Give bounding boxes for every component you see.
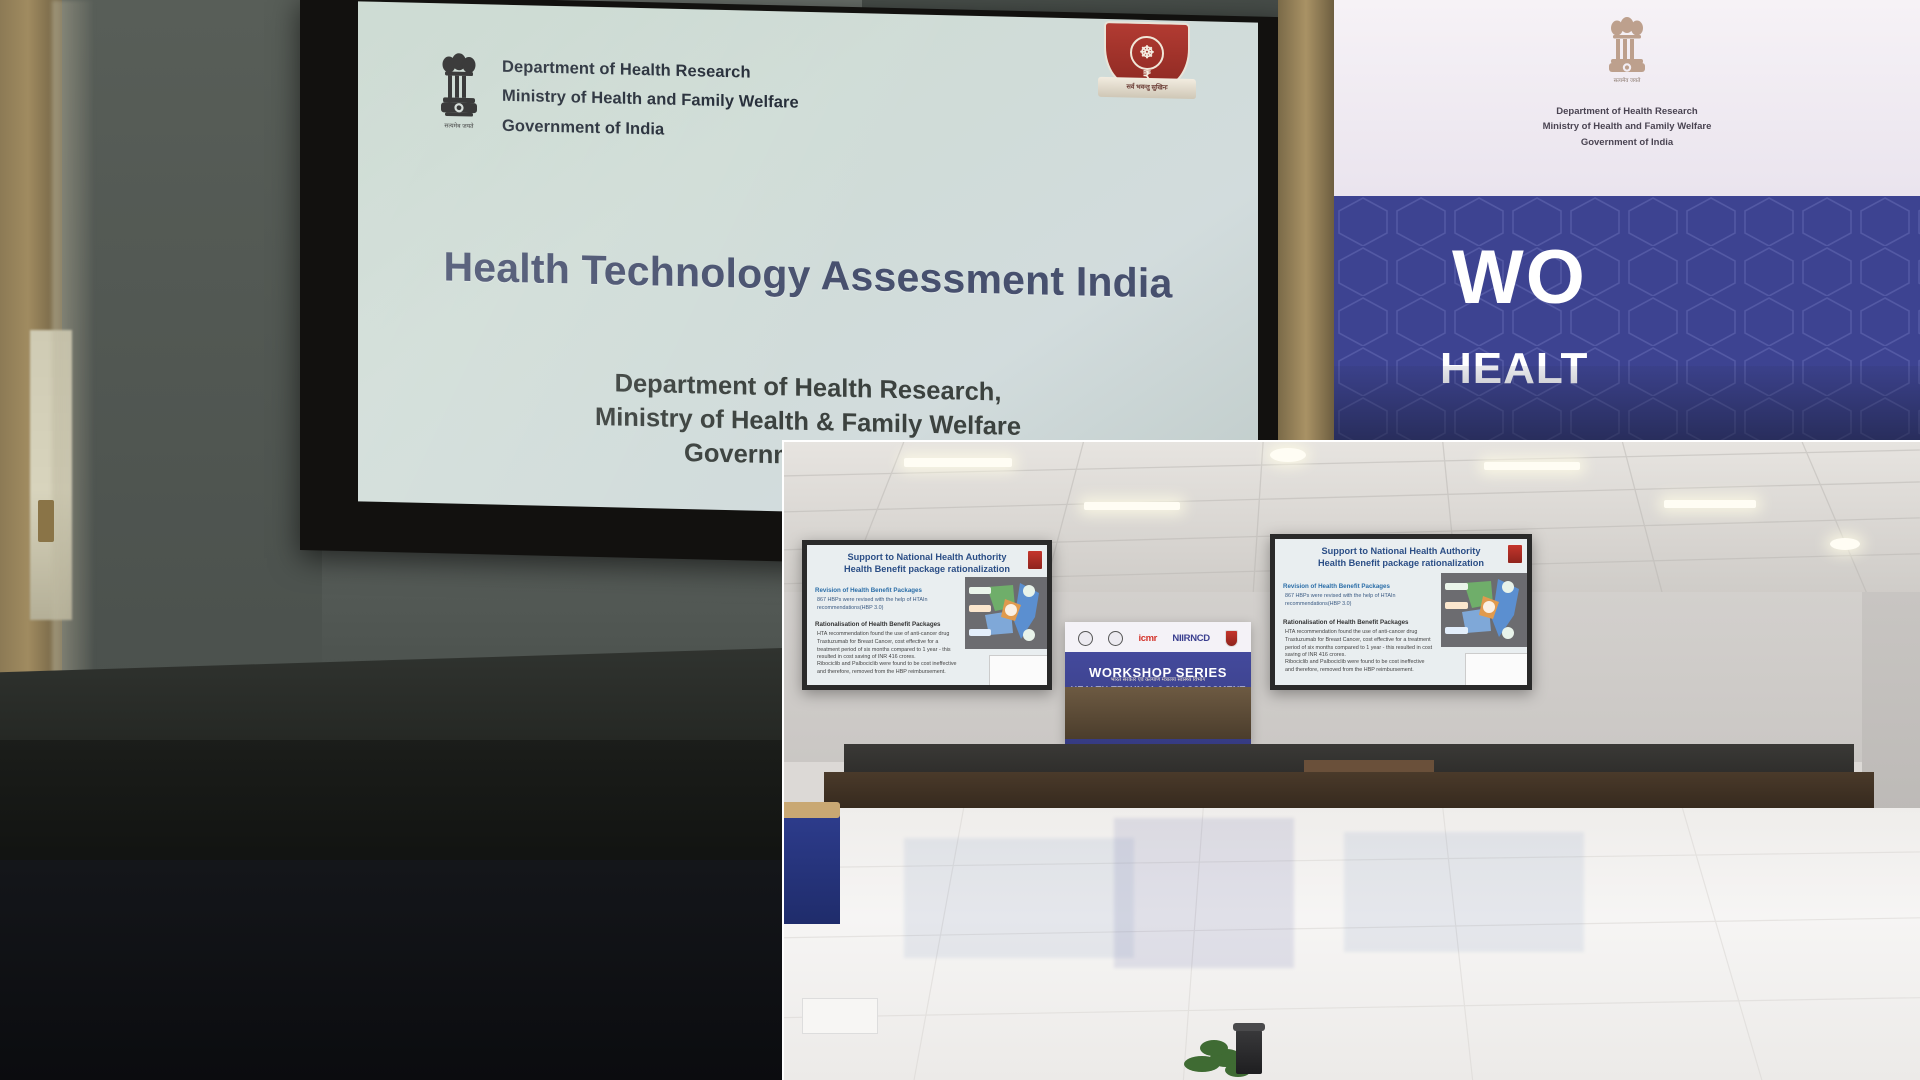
floor-reflection	[904, 838, 1134, 958]
inset-right-section-2-heading: Rationalisation of Health Benefit Packag…	[1283, 619, 1409, 626]
hta-shield-badge-icon: ☸ ₹ सर्व भवन्तु सुखिनः	[1098, 21, 1196, 115]
india-state-emblem-icon: सत्यमेव जयते	[436, 51, 482, 136]
slide-title: Health Technology Assessment India	[358, 241, 1258, 309]
slide-header-line-2: Ministry of Health and Family Welfare	[502, 82, 799, 118]
slide-header-line-3: Government of India	[502, 111, 799, 147]
inset-right-thumbnail	[1465, 653, 1527, 685]
banner-photo-caption: भारत सरकार एवं कल्याण मंत्रालय स्वास्थ्य…	[1065, 675, 1251, 683]
hta-shield-badge-icon	[1225, 630, 1238, 647]
inset-right-section-2-bullet-1: HTA recommendation found the use of anti…	[1285, 629, 1435, 660]
india-map-icon	[1441, 573, 1527, 647]
inset-right-title-line-2: Health Benefit package rationalization	[1275, 557, 1527, 569]
ceiling-light	[1084, 502, 1180, 510]
floor-urn	[1236, 1028, 1262, 1074]
inset-right-section-1-heading: Revision of Health Benefit Packages	[1283, 583, 1390, 590]
poster-bottom-shadow	[1334, 366, 1920, 440]
ceiling-light	[1664, 500, 1756, 508]
svg-text:सत्यमेव जयते: सत्यमेव जयते	[444, 121, 474, 130]
hta-shield-badge-icon	[1027, 550, 1043, 570]
inset-left-section-1-body: 867 HBPs were revised with the help of H…	[817, 597, 957, 613]
inset-right-slide: Support to National Health Authority Hea…	[1275, 539, 1527, 685]
inset-hall-photo: Support to National Health Authority Hea…	[782, 440, 1920, 1080]
slide-header-line-1: Department of Health Research	[502, 53, 799, 89]
inset-right-title-line-1: Support to National Health Authority	[1275, 545, 1527, 557]
inset-right-projection-screen: Support to National Health Authority Hea…	[1270, 534, 1532, 690]
left-wall	[62, 0, 322, 690]
window-latch	[38, 500, 54, 542]
auditorium-floor	[0, 860, 782, 1080]
floor-reflection	[1344, 832, 1584, 952]
slide-header: सत्यमेव जयते Department of Health Resear…	[436, 51, 799, 148]
inset-right-section-2-bullet-2: Ribociclib and Palbociclib were found to…	[1285, 659, 1435, 675]
icmr-wordmark: icmr	[1139, 633, 1157, 644]
inset-left-slide: Support to National Health Authority Hea…	[807, 545, 1047, 685]
table-top	[782, 802, 840, 818]
badge-wheel: ☸	[1130, 36, 1164, 71]
inset-left-title-line-2: Health Benefit package rationalization	[807, 563, 1047, 575]
inset-left-title-line-1: Support to National Health Authority	[807, 551, 1047, 563]
ceiling-light	[904, 458, 1012, 467]
urn-lid	[1233, 1023, 1265, 1031]
window-curtain	[52, 0, 92, 700]
poster-wood-frame	[1278, 0, 1334, 440]
slide-subtitle-line-1: Department of Health Research,	[358, 361, 1258, 416]
poster-org-lines: Department of Health Research Ministry o…	[1334, 104, 1920, 150]
ceiling-light	[1830, 538, 1860, 550]
inset-right-slide-title: Support to National Health Authority Hea…	[1275, 545, 1527, 570]
niirncd-wordmark: NIIRNCD	[1172, 633, 1209, 644]
india-state-emblem-icon: सत्यमेव जयते	[1605, 16, 1649, 90]
india-state-emblem-icon	[1078, 631, 1093, 646]
inset-left-thumbnail	[989, 655, 1047, 685]
banner-logo-row: icmr NIIRNCD	[1065, 626, 1251, 650]
hta-shield-badge-icon	[1507, 544, 1523, 564]
stage-platform-face	[0, 740, 782, 880]
inset-left-section-2-bullet-1: HTA recommendation found the use of anti…	[817, 631, 959, 662]
inset-left-section-2-heading: Rationalisation of Health Benefit Packag…	[815, 621, 941, 628]
poster-org-line-3: Government of India	[1334, 135, 1920, 150]
india-map-svg	[1441, 573, 1527, 647]
inset-right-section-1-body: 867 HBPs were revised with the help of H…	[1285, 593, 1433, 609]
inset-left-projection-screen: Support to National Health Authority Hea…	[802, 540, 1052, 690]
poster-top-band: सत्यमेव जयते Department of Health Resear…	[1334, 0, 1920, 196]
inset-left-section-1-heading: Revision of Health Benefit Packages	[815, 587, 922, 594]
floor-paper	[802, 998, 878, 1034]
ceiling-light	[1270, 448, 1306, 462]
india-map-icon	[965, 577, 1047, 649]
poster-org-line-1: Department of Health Research	[1334, 104, 1920, 119]
poster-headline: WO	[1452, 234, 1587, 321]
svg-text:सत्यमेव जयते: सत्यमेव जयते	[1614, 77, 1642, 84]
badge-rupee-symbol: ₹	[1143, 68, 1151, 84]
poster-org-line-2: Ministry of Health and Family Welfare	[1334, 119, 1920, 134]
registration-table	[784, 814, 840, 924]
floor-reflection	[1114, 818, 1294, 968]
india-map-svg	[965, 577, 1047, 649]
ceiling-light	[1484, 462, 1580, 470]
badge-ribbon: सर्व भवन्तु सुखिनः	[1098, 77, 1196, 99]
icmr-seal-icon	[1108, 631, 1123, 646]
banner-photo-strip: भारत सरकार एवं कल्याण मंत्रालय स्वास्थ्य…	[1065, 687, 1251, 739]
workshop-poster: सत्यमेव जयते Department of Health Resear…	[1334, 0, 1920, 440]
inset-tiled-floor	[784, 808, 1920, 1080]
slide-header-lines: Department of Health Research Ministry o…	[502, 53, 799, 148]
inset-left-section-2-bullet-2: Ribociclib and Palbociclib were found to…	[817, 661, 959, 677]
badge-shield: ☸ ₹	[1104, 21, 1190, 89]
inset-left-slide-title: Support to National Health Authority Hea…	[807, 551, 1047, 576]
screenshot-root: सत्यमेव जयते Department of Health Resear…	[0, 0, 1920, 1080]
